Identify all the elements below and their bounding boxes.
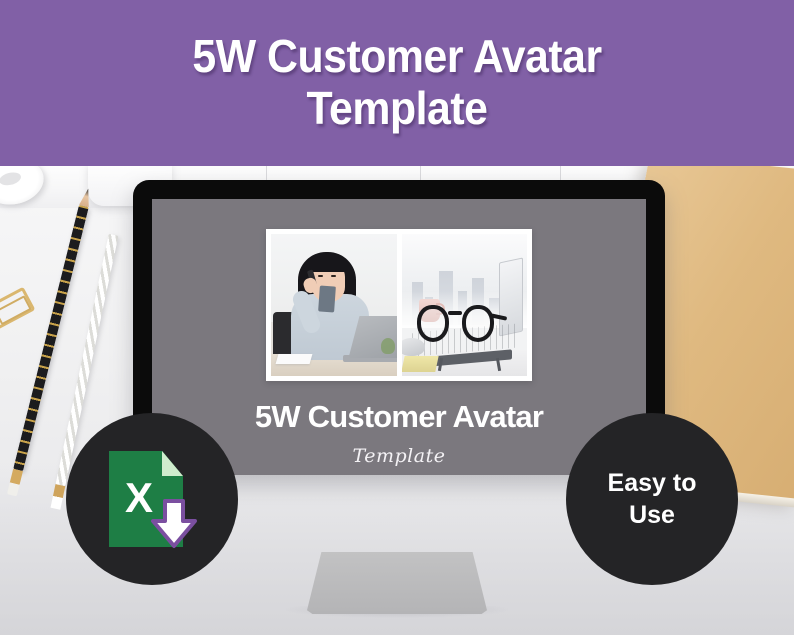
photo-lens — [462, 305, 495, 342]
photo-plant — [381, 338, 395, 354]
collage-photo-glasses-laptop — [402, 234, 528, 376]
excel-download-badge[interactable]: X — [66, 413, 238, 585]
photo-eyeglasses-icon — [417, 305, 495, 342]
photo-paper — [276, 354, 313, 364]
photo-eye — [331, 275, 336, 277]
photo-notepad — [402, 356, 439, 372]
photo-glasses-bridge — [448, 311, 462, 315]
black-pencil — [13, 205, 89, 471]
photo-fringe — [309, 254, 348, 272]
download-arrow-icon — [151, 499, 197, 549]
photo-necktie — [318, 285, 336, 312]
excel-file-download-icon: X — [109, 451, 195, 547]
easy-to-use-label: Easy to Use — [608, 467, 697, 531]
listing-image-canvas: 5W Customer Avatar Template 5W Customer … — [0, 0, 794, 635]
easy-to-use-badge[interactable]: Easy to Use — [566, 413, 738, 585]
monitor-stand — [307, 552, 487, 614]
collage-photo-woman-on-phone — [271, 234, 397, 376]
page-title: 5W Customer Avatar Template — [155, 31, 639, 134]
photo-eye — [318, 275, 323, 277]
screen-subtitle: Template — [353, 445, 446, 467]
header-banner: 5W Customer Avatar Template — [0, 0, 794, 166]
gold-paperclip-icon — [0, 287, 35, 332]
monitor-screen: 5W Customer Avatar Template — [152, 199, 646, 475]
screen-title: 5W Customer Avatar — [255, 401, 543, 432]
photo-lens — [417, 305, 450, 342]
photo-collage — [266, 229, 532, 381]
desktop-monitor: 5W Customer Avatar Template — [133, 180, 665, 475]
